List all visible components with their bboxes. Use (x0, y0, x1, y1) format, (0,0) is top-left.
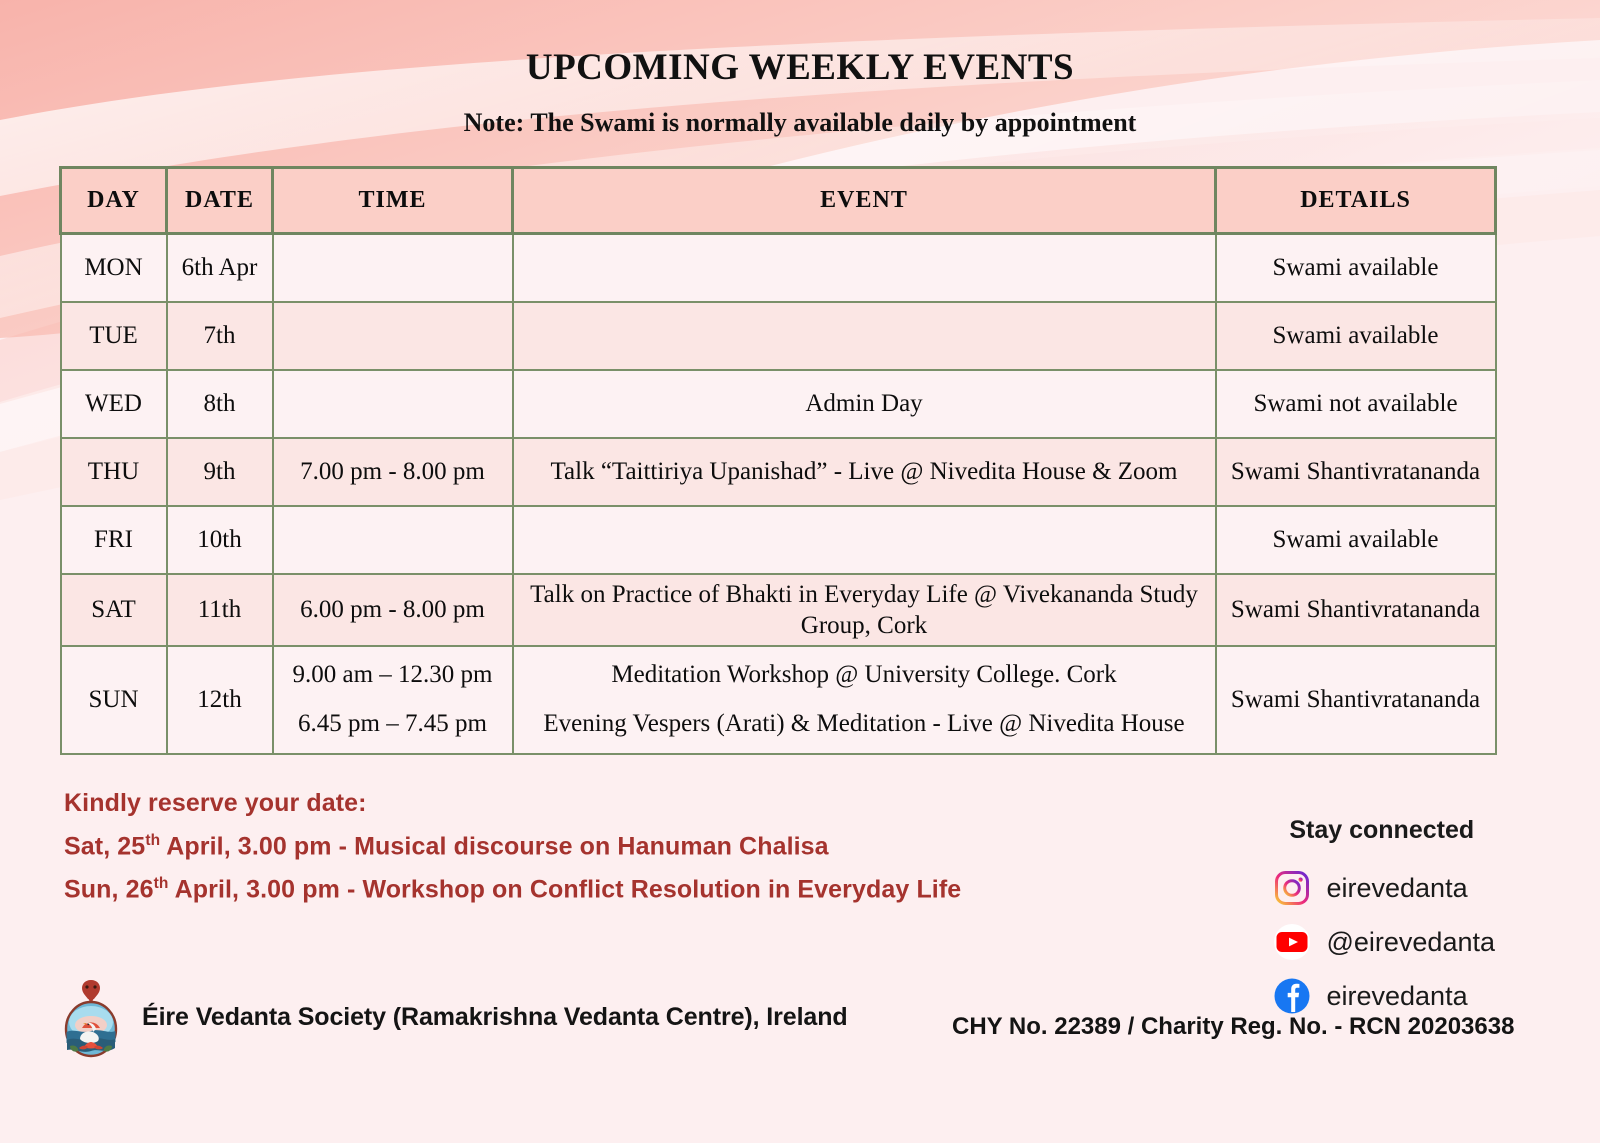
cell-details: Swami Shantivratananda (1216, 646, 1496, 754)
table-row: MON 6th Apr Swami available (61, 234, 1496, 302)
cell-event (513, 234, 1216, 302)
youtube-handle: @eirevedanta (1326, 927, 1495, 958)
cell-time (273, 302, 513, 370)
cell-details: Swami available (1216, 506, 1496, 574)
footer-registration: CHY No. 22389 / Charity Reg. No. - RCN 2… (952, 1013, 1514, 1041)
cell-event-morning: Meditation Workshop @ University College… (522, 659, 1207, 690)
cell-day: WED (61, 370, 167, 438)
cell-details: Swami available (1216, 234, 1496, 302)
cell-event: Talk “Taittiriya Upanishad” - Live @ Niv… (513, 438, 1216, 506)
reserve-line-1: Sat, 25th April, 3.00 pm - Musical disco… (64, 822, 961, 865)
cell-details: Swami not available (1216, 370, 1496, 438)
cell-day: SUN (61, 646, 167, 754)
social-link-instagram[interactable]: eirevedanta (1274, 861, 1495, 915)
column-header-event: EVENT (513, 168, 1216, 234)
cell-date: 11th (167, 574, 273, 647)
cell-details: Swami Shantivratananda (1216, 438, 1496, 506)
cell-date: 12th (167, 646, 273, 754)
cell-day: SAT (61, 574, 167, 647)
stay-connected-heading: Stay connected (1274, 816, 1495, 845)
reserve-line-1-prefix: Sat, 25 (64, 832, 145, 860)
cell-time-evening: 6.45 pm – 7.45 pm (282, 708, 504, 739)
cell-day: FRI (61, 506, 167, 574)
reserve-line-2: Sun, 26th April, 3.00 pm - Workshop on C… (64, 865, 961, 908)
cell-date: 9th (167, 438, 273, 506)
reserve-line-1-ordinal: th (145, 832, 160, 849)
reserve-heading: Kindly reserve your date: (64, 784, 961, 822)
footer-organisation-block: Éire Vedanta Society (Ramakrishna Vedant… (60, 976, 848, 1058)
cell-event (513, 506, 1216, 574)
ramakrishna-emblem-logo (60, 976, 122, 1058)
events-table: DAY DATE TIME EVENT DETAILS MON 6th Apr … (59, 166, 1497, 755)
page-note: Note: The Swami is normally available da… (0, 108, 1600, 138)
table-row: SUN 12th 9.00 am – 12.30 pm 6.45 pm – 7.… (61, 646, 1496, 754)
facebook-handle: eirevedanta (1326, 981, 1467, 1012)
cell-day: THU (61, 438, 167, 506)
column-header-details: DETAILS (1216, 168, 1496, 234)
cell-event: Admin Day (513, 370, 1216, 438)
stay-connected-block: Stay connected eirevedanta (1274, 816, 1495, 1023)
reserve-line-2-prefix: Sun, 26 (64, 876, 154, 904)
table-row: WED 8th Admin Day Swami not available (61, 370, 1496, 438)
cell-event: Meditation Workshop @ University College… (513, 646, 1216, 754)
cell-time: 7.00 pm - 8.00 pm (273, 438, 513, 506)
table-header-row: DAY DATE TIME EVENT DETAILS (61, 168, 1496, 234)
instagram-handle: eirevedanta (1326, 873, 1467, 904)
cell-event-evening: Evening Vespers (Arati) & Meditation - L… (522, 708, 1207, 739)
cell-time (273, 234, 513, 302)
cell-event: Talk on Practice of Bhakti in Everyday L… (513, 574, 1216, 647)
cell-day: TUE (61, 302, 167, 370)
reserve-block: Kindly reserve your date: Sat, 25th Apri… (64, 784, 961, 909)
social-link-youtube[interactable]: @eirevedanta (1274, 915, 1495, 969)
cell-date: 6th Apr (167, 234, 273, 302)
youtube-icon (1274, 924, 1310, 960)
column-header-time: TIME (273, 168, 513, 234)
table-row: TUE 7th Swami available (61, 302, 1496, 370)
column-header-date: DATE (167, 168, 273, 234)
events-table-wrapper: DAY DATE TIME EVENT DETAILS MON 6th Apr … (59, 166, 1496, 755)
cell-time (273, 506, 513, 574)
cell-day: MON (61, 234, 167, 302)
table-row: SAT 11th 6.00 pm - 8.00 pm Talk on Pract… (61, 574, 1496, 647)
cell-details: Swami available (1216, 302, 1496, 370)
reserve-line-1-rest: April, 3.00 pm - Musical discourse on Ha… (160, 832, 829, 860)
table-row: FRI 10th Swami available (61, 506, 1496, 574)
reserve-line-2-ordinal: th (154, 875, 169, 892)
cell-details: Swami Shantivratananda (1216, 574, 1496, 647)
facebook-icon (1274, 978, 1310, 1014)
cell-time: 9.00 am – 12.30 pm 6.45 pm – 7.45 pm (273, 646, 513, 754)
cell-event (513, 302, 1216, 370)
page-title: UPCOMING WEEKLY EVENTS (0, 46, 1600, 89)
cell-time (273, 370, 513, 438)
cell-date: 7th (167, 302, 273, 370)
cell-date: 10th (167, 506, 273, 574)
cell-time-morning: 9.00 am – 12.30 pm (282, 659, 504, 690)
cell-time: 6.00 pm - 8.00 pm (273, 574, 513, 647)
instagram-icon (1274, 870, 1310, 906)
footer-organisation-name: Éire Vedanta Society (Ramakrishna Vedant… (142, 1003, 848, 1032)
column-header-day: DAY (61, 168, 167, 234)
reserve-line-2-rest: April, 3.00 pm - Workshop on Conflict Re… (168, 876, 961, 904)
cell-date: 8th (167, 370, 273, 438)
table-row: THU 9th 7.00 pm - 8.00 pm Talk “Taittiri… (61, 438, 1496, 506)
